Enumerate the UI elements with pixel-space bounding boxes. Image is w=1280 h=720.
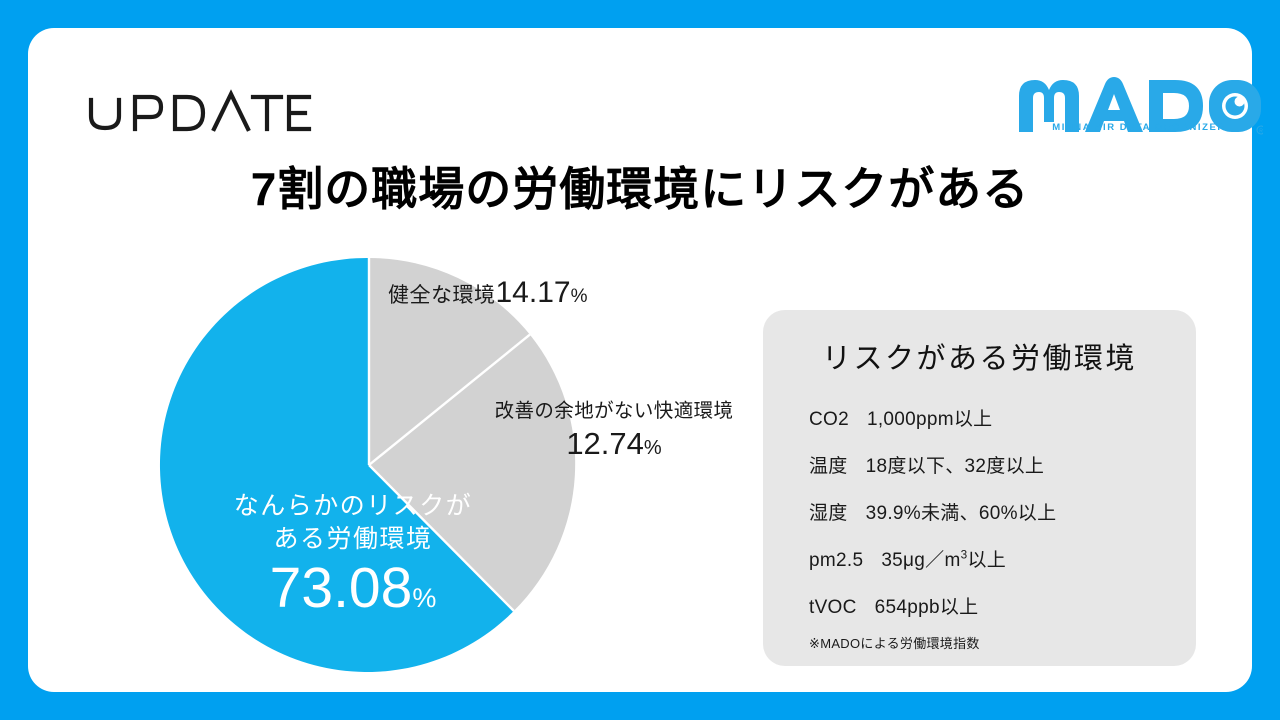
page-title: 7割の職場の労働環境にリスクがある	[28, 153, 1252, 219]
criteria-row: 湿度39.9%未満、60%以上	[809, 498, 1199, 525]
criteria-footnote: ※MADOによる労働環境指数	[809, 633, 1199, 652]
criteria-key: 温度	[809, 451, 848, 478]
pie-value-healthy: 14.17	[496, 276, 571, 309]
criteria-row: tVOC654ppb以上	[809, 592, 1199, 619]
mado-tagline: MINNA AIR DATA ORGANIZER	[1016, 122, 1262, 133]
criteria-value: 654ppb以上	[875, 592, 979, 619]
pie-value-comfortable: 12.74	[566, 426, 644, 461]
risk-criteria-panel: リスクがある労働環境 CO21,000ppm以上 温度18度以下、32度以上 湿…	[763, 310, 1196, 666]
criteria-value: 39.9%未満、60%以上	[866, 498, 1057, 525]
criteria-key: tVOC	[809, 597, 857, 619]
criteria-key: pm2.5	[809, 550, 863, 572]
pie-label-comfortable: 改善の余地がない快適環境 12.74%	[479, 394, 749, 462]
risk-criteria-title: リスクがある労働環境	[763, 335, 1196, 377]
updater-logo	[85, 88, 315, 136]
risk-criteria-list: CO21,000ppm以上 温度18度以下、32度以上 湿度39.9%未満、60…	[809, 404, 1199, 652]
criteria-value: 1,000ppm以上	[867, 404, 993, 431]
pie-label-healthy-text: 健全な環境	[388, 284, 496, 307]
pie-label-comfortable-text: 改善の余地がない快適環境	[479, 394, 749, 423]
criteria-row: pm2.535μg／m3以上	[809, 545, 1199, 572]
pie-value-comfortable-row: 12.74%	[479, 426, 749, 462]
criteria-row: CO21,000ppm以上	[809, 404, 1199, 431]
criteria-value: 35μg／m3以上	[881, 545, 1006, 572]
criteria-row: 温度18度以下、32度以上	[809, 451, 1199, 478]
pie-percent-comfortable: %	[644, 437, 662, 459]
criteria-value: 18度以下、32度以上	[866, 451, 1045, 478]
slide-card: R MINNA AIR DATA ORGANIZER 7割の職場の労働環境にリス…	[28, 28, 1252, 692]
criteria-key: 湿度	[809, 498, 848, 525]
criteria-key: CO2	[809, 409, 849, 431]
pie-label-healthy: 健全な環境14.17%	[388, 276, 587, 310]
pie-percent-healthy: %	[571, 286, 588, 307]
